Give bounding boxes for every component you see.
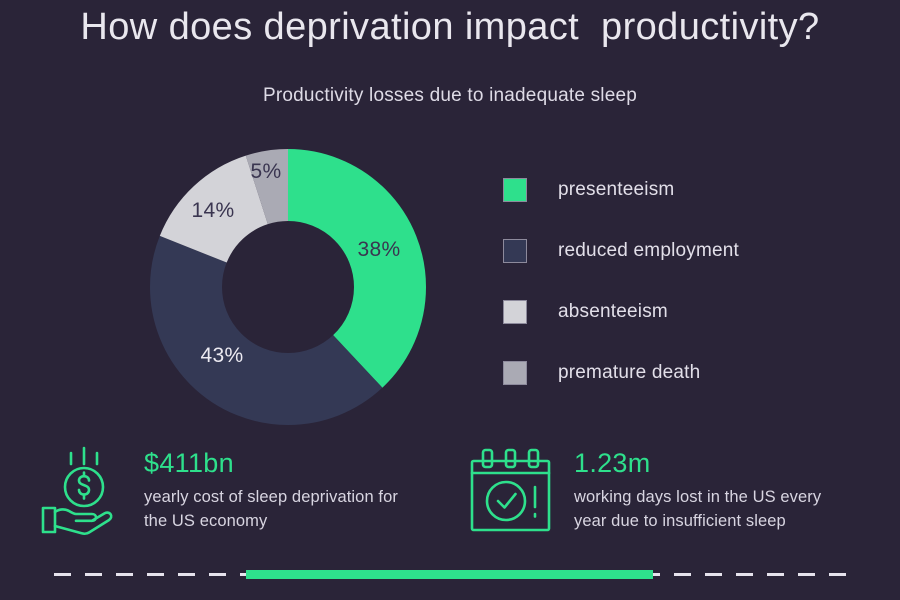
chart-subtitle: Productivity losses due to inadequate sl… <box>0 85 900 107</box>
stat-working-days-lost: 1.23m working days lost in the US every … <box>468 444 884 536</box>
legend-label-absenteeism: absenteeism <box>558 301 668 323</box>
donut-chart: 38% 43% 14% 5% <box>150 149 426 425</box>
legend-swatch-absenteeism <box>503 300 527 324</box>
calendar-check-alert-icon <box>468 444 560 536</box>
stat-working-days-lost-description: working days lost in the US every year d… <box>574 486 884 534</box>
legend-swatch-reduced-employment <box>503 239 527 263</box>
donut-label-absenteeism: 14% <box>192 199 235 223</box>
progress-rail <box>54 570 846 579</box>
chart-legend: presenteeism reduced employment absentee… <box>503 178 863 422</box>
legend-label-presenteeism: presenteeism <box>558 179 674 201</box>
stat-working-days-lost-value: 1.23m <box>574 450 884 477</box>
legend-swatch-premature-death <box>503 361 527 385</box>
stat-yearly-cost-value: $411bn <box>144 450 444 477</box>
stat-yearly-cost: $411bn yearly cost of sleep deprivation … <box>38 444 444 536</box>
donut-label-premature-death: 5% <box>251 160 282 184</box>
page-title: How does deprivation impact productivity… <box>0 6 900 49</box>
legend-item-presenteeism[interactable]: presenteeism <box>503 178 863 202</box>
legend-item-reduced-employment[interactable]: reduced employment <box>503 239 863 263</box>
legend-swatch-presenteeism <box>503 178 527 202</box>
hand-holding-dollar-coin-icon <box>38 444 130 536</box>
donut-label-presenteeism: 38% <box>358 238 401 262</box>
legend-label-reduced-employment: reduced employment <box>558 240 739 262</box>
progress-fill-bar <box>246 570 653 579</box>
legend-item-absenteeism[interactable]: absenteeism <box>503 300 863 324</box>
stat-yearly-cost-description: yearly cost of sleep deprivation for the… <box>144 486 444 534</box>
legend-label-premature-death: premature death <box>558 362 700 384</box>
donut-label-reduced-employment: 43% <box>201 344 244 368</box>
legend-item-premature-death[interactable]: premature death <box>503 361 863 385</box>
